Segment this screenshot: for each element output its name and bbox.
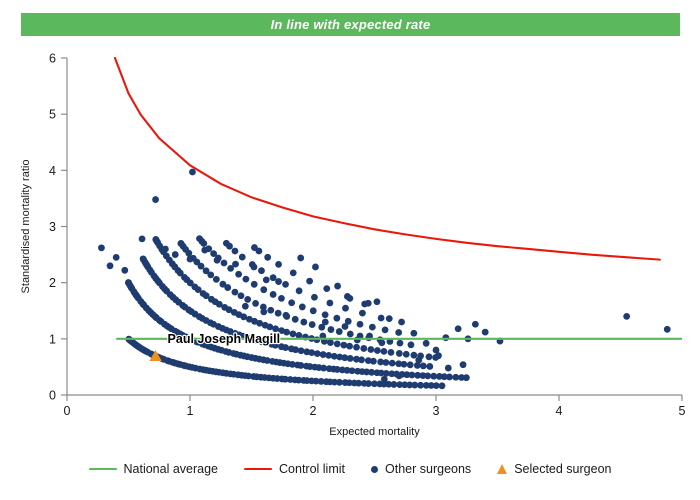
data-point[interactable] — [278, 295, 285, 302]
data-point[interactable] — [312, 264, 319, 271]
data-point[interactable] — [395, 329, 402, 336]
selected-surgeon-label: Paul Joseph Magill — [168, 332, 281, 346]
data-point[interactable] — [322, 319, 329, 326]
data-point[interactable] — [439, 382, 446, 389]
data-point[interactable] — [426, 363, 433, 370]
data-point[interactable] — [328, 326, 335, 333]
data-point[interactable] — [410, 352, 417, 359]
x-tick-label: 2 — [310, 404, 317, 418]
data-point[interactable] — [389, 360, 396, 367]
data-point[interactable] — [482, 329, 489, 336]
data-point[interactable] — [292, 316, 299, 323]
data-point[interactable] — [359, 310, 366, 317]
data-point[interactable] — [309, 321, 316, 328]
data-point[interactable] — [226, 243, 233, 250]
chart-legend: National averageControl limitOther surge… — [0, 458, 700, 480]
data-point[interactable] — [455, 325, 462, 332]
data-point[interactable] — [251, 281, 258, 288]
data-point[interactable] — [282, 281, 289, 288]
data-point[interactable] — [256, 248, 263, 255]
control-limit-line-swatch — [244, 468, 272, 470]
data-point[interactable] — [415, 357, 422, 364]
data-point[interactable] — [353, 344, 360, 351]
data-point[interactable] — [472, 321, 479, 328]
data-point[interactable] — [98, 244, 105, 251]
data-point[interactable] — [298, 347, 305, 354]
data-point[interactable] — [323, 285, 330, 292]
x-tick-label: 4 — [556, 404, 563, 418]
data-point[interactable] — [398, 319, 405, 326]
data-point[interactable] — [388, 349, 395, 356]
x-tick-label: 3 — [433, 404, 440, 418]
data-point[interactable] — [423, 340, 430, 347]
control-limit-path — [115, 58, 660, 260]
data-point[interactable] — [242, 276, 249, 283]
data-point[interactable] — [275, 261, 282, 268]
data-point[interactable] — [311, 294, 318, 301]
data-point[interactable] — [283, 312, 290, 319]
data-point[interactable] — [189, 169, 196, 176]
legend-label: National average — [124, 463, 219, 476]
data-point[interactable] — [107, 262, 114, 269]
data-point[interactable] — [264, 254, 271, 261]
data-point[interactable] — [347, 331, 354, 338]
data-point[interactable] — [360, 345, 367, 352]
data-point[interactable] — [290, 269, 297, 276]
selected-surgeon-name: Paul Joseph Magill — [168, 332, 281, 346]
legend-label: Other surgeons — [385, 463, 471, 476]
data-point[interactable] — [346, 343, 353, 350]
y-tick-label: 6 — [49, 52, 56, 66]
data-point[interactable] — [383, 359, 390, 366]
data-point[interactable] — [358, 356, 365, 363]
data-point[interactable] — [435, 352, 442, 359]
data-point[interactable] — [445, 365, 452, 372]
data-point[interactable] — [369, 324, 376, 331]
data-point[interactable] — [365, 380, 372, 387]
data-point[interactable] — [374, 298, 381, 305]
data-point[interactable] — [275, 310, 282, 317]
y-tick-label: 3 — [49, 220, 56, 234]
data-point[interactable] — [446, 374, 453, 381]
data-point[interactable] — [244, 296, 251, 303]
data-point[interactable] — [252, 300, 259, 307]
y-tick-label: 0 — [49, 389, 56, 403]
data-point[interactable] — [386, 315, 393, 322]
data-point[interactable] — [296, 287, 303, 294]
data-point[interactable] — [121, 267, 128, 274]
data-point[interactable] — [239, 254, 246, 261]
legend-label: Selected surgeon — [514, 463, 611, 476]
data-point[interactable] — [460, 361, 467, 368]
data-point[interactable] — [322, 311, 329, 318]
data-point[interactable] — [336, 328, 343, 335]
data-point[interactable] — [207, 271, 214, 278]
data-point[interactable] — [623, 313, 630, 320]
data-point[interactable] — [232, 261, 239, 268]
data-point[interactable] — [342, 323, 349, 330]
data-point[interactable] — [396, 350, 403, 357]
data-point[interactable] — [410, 330, 417, 337]
data-point[interactable] — [354, 337, 361, 344]
data-point[interactable] — [367, 346, 374, 353]
funnel-plot-page: In line with expected rate 0123456012345… — [0, 0, 700, 500]
data-point[interactable] — [374, 347, 381, 354]
data-point[interactable] — [213, 276, 220, 283]
data-point[interactable] — [238, 292, 245, 299]
data-point[interactable] — [162, 246, 169, 253]
data-point[interactable] — [361, 301, 368, 308]
other-surgeons-dot-swatch — [371, 466, 378, 473]
legend-item-national-average[interactable]: National average — [89, 463, 219, 476]
data-point[interactable] — [378, 315, 385, 322]
data-point[interactable] — [260, 308, 267, 315]
data-point[interactable] — [200, 240, 207, 247]
y-tick-label: 1 — [49, 332, 56, 346]
data-point[interactable] — [407, 361, 414, 368]
data-point[interactable] — [403, 351, 410, 358]
legend-label: Control limit — [279, 463, 345, 476]
data-point[interactable] — [397, 340, 404, 347]
data-point[interactable] — [314, 350, 321, 357]
data-point[interactable] — [263, 276, 270, 283]
data-point[interactable] — [260, 286, 267, 293]
data-point[interactable] — [347, 355, 354, 362]
data-point[interactable] — [198, 263, 205, 270]
legend-item-selected-surgeon[interactable]: Selected surgeon — [497, 463, 611, 476]
selected-surgeon-triangle-swatch — [497, 464, 507, 474]
data-point[interactable] — [381, 348, 388, 355]
data-point[interactable] — [420, 363, 427, 370]
data-point[interactable] — [275, 278, 282, 285]
data-point[interactable] — [327, 339, 334, 346]
data-point[interactable] — [340, 342, 347, 349]
x-tick-label: 1 — [187, 404, 194, 418]
y-tick-label: 4 — [49, 164, 56, 178]
data-point[interactable] — [401, 361, 408, 368]
x-tick-label: 5 — [679, 404, 686, 418]
data-point[interactable] — [297, 255, 304, 262]
data-point[interactable] — [270, 291, 277, 298]
data-point[interactable] — [424, 372, 431, 379]
data-point[interactable] — [299, 304, 306, 311]
y-axis-title: Standardised mortality ratio — [20, 160, 32, 294]
data-point[interactable] — [283, 329, 290, 336]
data-point[interactable] — [232, 248, 239, 255]
data-point[interactable] — [251, 264, 258, 271]
data-point[interactable] — [664, 326, 671, 333]
data-point[interactable] — [139, 235, 146, 242]
chart-area: 0123456012345Expected mortalityStandardi… — [0, 0, 700, 500]
x-axis-title: Expected mortality — [329, 426, 420, 438]
data-point[interactable] — [214, 257, 221, 264]
data-point[interactable] — [382, 326, 389, 333]
control-limit-curve — [115, 58, 660, 260]
data-point[interactable] — [258, 267, 265, 274]
data-point[interactable] — [333, 315, 340, 322]
data-point[interactable] — [221, 260, 228, 267]
data-point[interactable] — [326, 300, 333, 307]
data-point[interactable] — [300, 319, 307, 326]
y-tick-label: 2 — [49, 276, 56, 290]
data-point[interactable] — [334, 283, 341, 290]
data-point[interactable] — [357, 321, 364, 328]
data-point[interactable] — [267, 307, 274, 314]
data-point[interactable] — [224, 284, 231, 291]
data-point[interactable] — [347, 295, 354, 302]
data-point[interactable] — [282, 344, 289, 351]
data-point[interactable] — [334, 340, 341, 347]
data-point[interactable] — [433, 382, 440, 389]
data-point[interactable] — [408, 341, 415, 348]
other-surgeons-points[interactable] — [98, 169, 671, 390]
data-point[interactable] — [187, 256, 194, 263]
data-point[interactable] — [201, 247, 208, 254]
data-point[interactable] — [288, 299, 295, 306]
data-point[interactable] — [232, 289, 239, 296]
data-point[interactable] — [290, 330, 297, 337]
data-point[interactable] — [152, 196, 159, 203]
legend-item-control-limit[interactable]: Control limit — [244, 463, 345, 476]
legend-item-other-surgeons[interactable]: Other surgeons — [371, 463, 471, 476]
data-point[interactable] — [378, 339, 385, 346]
data-point[interactable] — [306, 278, 313, 285]
funnel-plot-svg: 0123456012345Expected mortalityStandardi… — [0, 0, 700, 455]
data-point[interactable] — [310, 307, 317, 314]
national-average-line-swatch — [89, 468, 117, 470]
data-point[interactable] — [426, 353, 433, 360]
data-point[interactable] — [235, 271, 242, 278]
data-point[interactable] — [242, 303, 249, 310]
data-point[interactable] — [381, 376, 388, 383]
data-point[interactable] — [113, 254, 120, 261]
y-tick-label: 5 — [49, 108, 56, 122]
data-point[interactable] — [370, 358, 377, 365]
data-point[interactable] — [463, 374, 470, 381]
data-point[interactable] — [172, 251, 179, 258]
data-point[interactable] — [442, 334, 449, 341]
data-point[interactable] — [396, 373, 403, 380]
x-tick-label: 0 — [64, 404, 71, 418]
data-point[interactable] — [342, 305, 349, 312]
